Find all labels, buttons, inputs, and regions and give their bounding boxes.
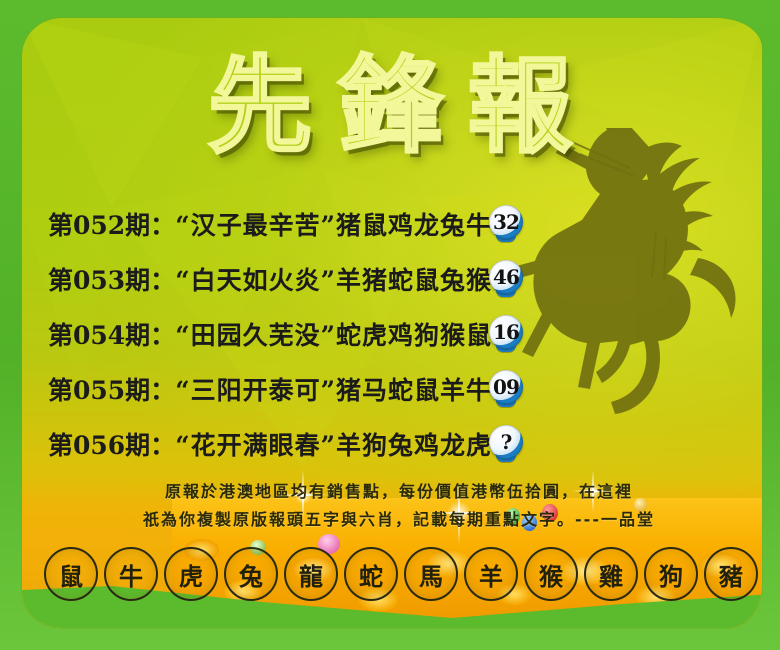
zodiac-medal-ox: 牛 bbox=[104, 547, 158, 601]
zodiac-medal-snake: 蛇 bbox=[344, 547, 398, 601]
lottery-ball-unknown: ? bbox=[489, 425, 523, 462]
phrase-text: “三阳开泰可” bbox=[175, 371, 336, 407]
ball-number: ? bbox=[489, 425, 523, 459]
zodiac-medal-tiger: 虎 bbox=[164, 547, 218, 601]
zodiac-medal-rooster: 雞 bbox=[584, 547, 638, 601]
ball-number: 16 bbox=[489, 315, 523, 349]
page-title: 先鋒報 bbox=[0, 50, 780, 162]
results-list: 第052期： “汉子最辛苦” 猪鼠鸡龙兔牛 32 第053期： “白天如火炎” … bbox=[48, 196, 518, 471]
issue-label: 第054期： bbox=[48, 316, 175, 352]
zodiac-medal-label: 蛇 bbox=[359, 557, 383, 592]
result-row: 第052期： “汉子最辛苦” 猪鼠鸡龙兔牛 32 bbox=[48, 196, 518, 251]
zodiac-text: 羊狗兔鸡龙虎 bbox=[336, 426, 492, 462]
phrase-text: “田园久芜没” bbox=[175, 316, 336, 352]
zodiac-medal-label: 龍 bbox=[299, 557, 323, 592]
phrase-text: “白天如火炎” bbox=[175, 261, 336, 297]
lottery-ball: 46 bbox=[489, 260, 523, 297]
lottery-ball: 32 bbox=[489, 205, 523, 242]
zodiac-text: 猪鼠鸡龙兔牛 bbox=[336, 206, 492, 242]
notice-line-2: 祇為你複製原版報頭五字與六肖，記載每期重點文字。---一品堂 bbox=[58, 506, 740, 534]
zodiac-medal-label: 猴 bbox=[539, 557, 563, 592]
lottery-ball: 09 bbox=[489, 370, 523, 407]
notice-line-1: 原報於港澳地區均有銷售點，每份價值港幣伍拾圓，在這裡 bbox=[58, 478, 740, 506]
zodiac-medal-label: 雞 bbox=[599, 557, 623, 592]
zodiac-medal-label: 牛 bbox=[119, 557, 143, 592]
zodiac-medal-rat: 鼠 bbox=[44, 547, 98, 601]
notice-block: 原報於港澳地區均有銷售點，每份價值港幣伍拾圓，在這裡 祇為你複製原版報頭五字與六… bbox=[58, 478, 740, 534]
zodiac-medal-monkey: 猴 bbox=[524, 547, 578, 601]
ball-number: 46 bbox=[489, 260, 523, 294]
result-row: 第056期： “花开满眼春” 羊狗兔鸡龙虎 ? bbox=[48, 416, 518, 471]
zodiac-medal-label: 狗 bbox=[659, 557, 683, 592]
issue-label: 第055期： bbox=[48, 371, 175, 407]
zodiac-medallion-strip: 鼠 牛 虎 兔 龍 蛇 馬 羊 猴 雞 狗 豬 bbox=[44, 548, 758, 600]
zodiac-medal-label: 虎 bbox=[179, 557, 203, 592]
zodiac-medal-label: 馬 bbox=[419, 557, 443, 592]
poster-root: 先鋒報 第052期： “汉子最辛苦” 猪鼠鸡龙兔牛 32 第053期： “白天如… bbox=[0, 0, 780, 650]
zodiac-medal-label: 羊 bbox=[479, 557, 503, 592]
phrase-text: “花开满眼春” bbox=[175, 426, 336, 462]
result-row: 第055期： “三阳开泰可” 猪马蛇鼠羊牛 09 bbox=[48, 361, 518, 416]
issue-label: 第053期： bbox=[48, 261, 175, 297]
issue-label: 第056期： bbox=[48, 426, 175, 462]
lottery-ball: 16 bbox=[489, 315, 523, 352]
zodiac-text: 蛇虎鸡狗猴鼠 bbox=[336, 316, 492, 352]
zodiac-medal-dog: 狗 bbox=[644, 547, 698, 601]
zodiac-medal-goat: 羊 bbox=[464, 547, 518, 601]
ball-number: 32 bbox=[489, 205, 523, 239]
result-row: 第054期： “田园久芜没” 蛇虎鸡狗猴鼠 16 bbox=[48, 306, 518, 361]
result-row: 第053期： “白天如火炎” 羊猪蛇鼠兔猴 46 bbox=[48, 251, 518, 306]
zodiac-medal-pig: 豬 bbox=[704, 547, 758, 601]
zodiac-medal-dragon: 龍 bbox=[284, 547, 338, 601]
issue-label: 第052期： bbox=[48, 206, 175, 242]
zodiac-medal-horse: 馬 bbox=[404, 547, 458, 601]
zodiac-medal-rabbit: 兔 bbox=[224, 547, 278, 601]
zodiac-text: 猪马蛇鼠羊牛 bbox=[336, 371, 492, 407]
zodiac-medal-label: 鼠 bbox=[59, 557, 83, 592]
zodiac-text: 羊猪蛇鼠兔猴 bbox=[336, 261, 492, 297]
zodiac-medal-label: 兔 bbox=[239, 557, 263, 592]
zodiac-medal-label: 豬 bbox=[719, 557, 743, 592]
horse-illustration bbox=[502, 128, 752, 488]
ball-number: 09 bbox=[489, 370, 523, 404]
phrase-text: “汉子最辛苦” bbox=[175, 206, 336, 242]
